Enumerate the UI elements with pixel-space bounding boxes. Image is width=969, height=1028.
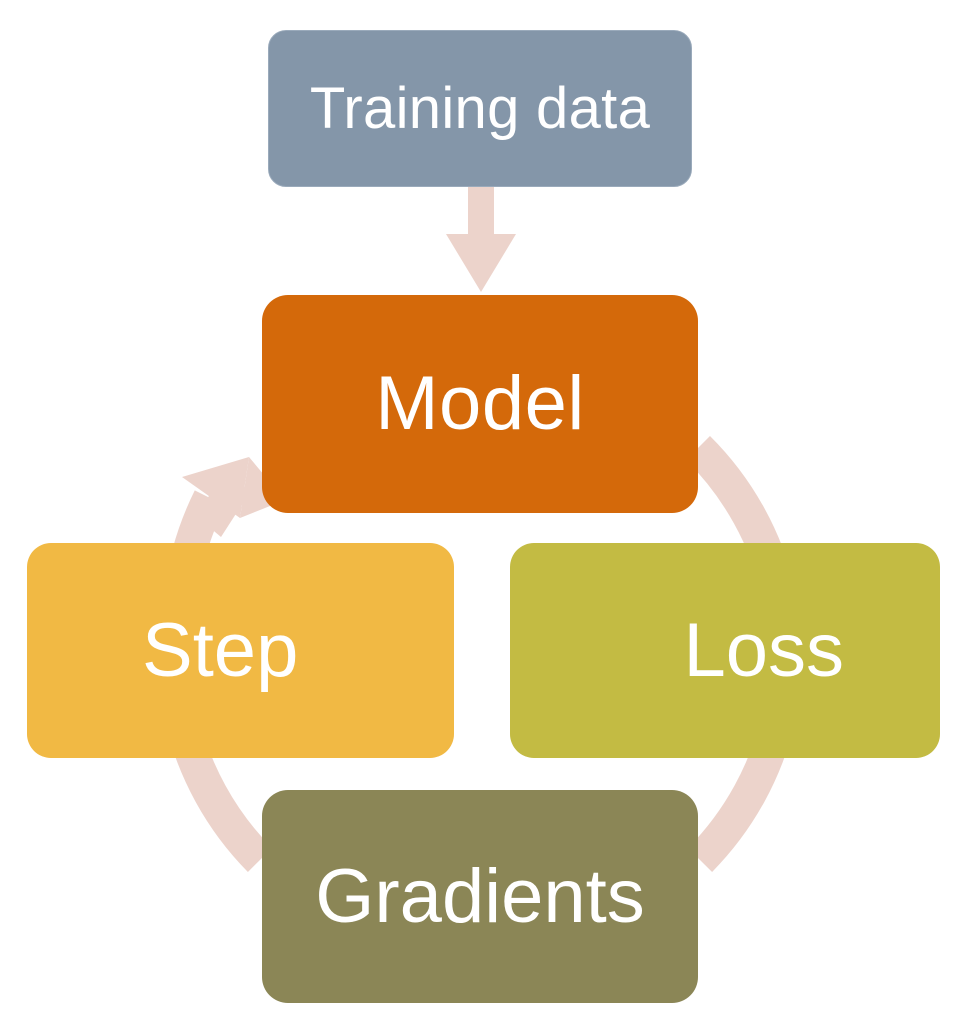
arrow-training-data-to-model [446, 186, 516, 292]
node-gradients-label: Gradients [315, 859, 645, 935]
node-loss[interactable]: Loss [510, 543, 940, 758]
node-loss-label: Loss [683, 613, 844, 689]
node-step-label: Step [142, 613, 298, 689]
node-step[interactable]: Step [27, 543, 454, 758]
node-gradients[interactable]: Gradients [262, 790, 698, 1003]
node-training-data-label: Training data [310, 80, 650, 138]
node-model-label: Model [375, 366, 585, 442]
node-model[interactable]: Model [262, 295, 698, 513]
training-loop-diagram: Training data Model Loss Step Gradients [0, 0, 969, 1028]
node-training-data[interactable]: Training data [268, 30, 692, 187]
